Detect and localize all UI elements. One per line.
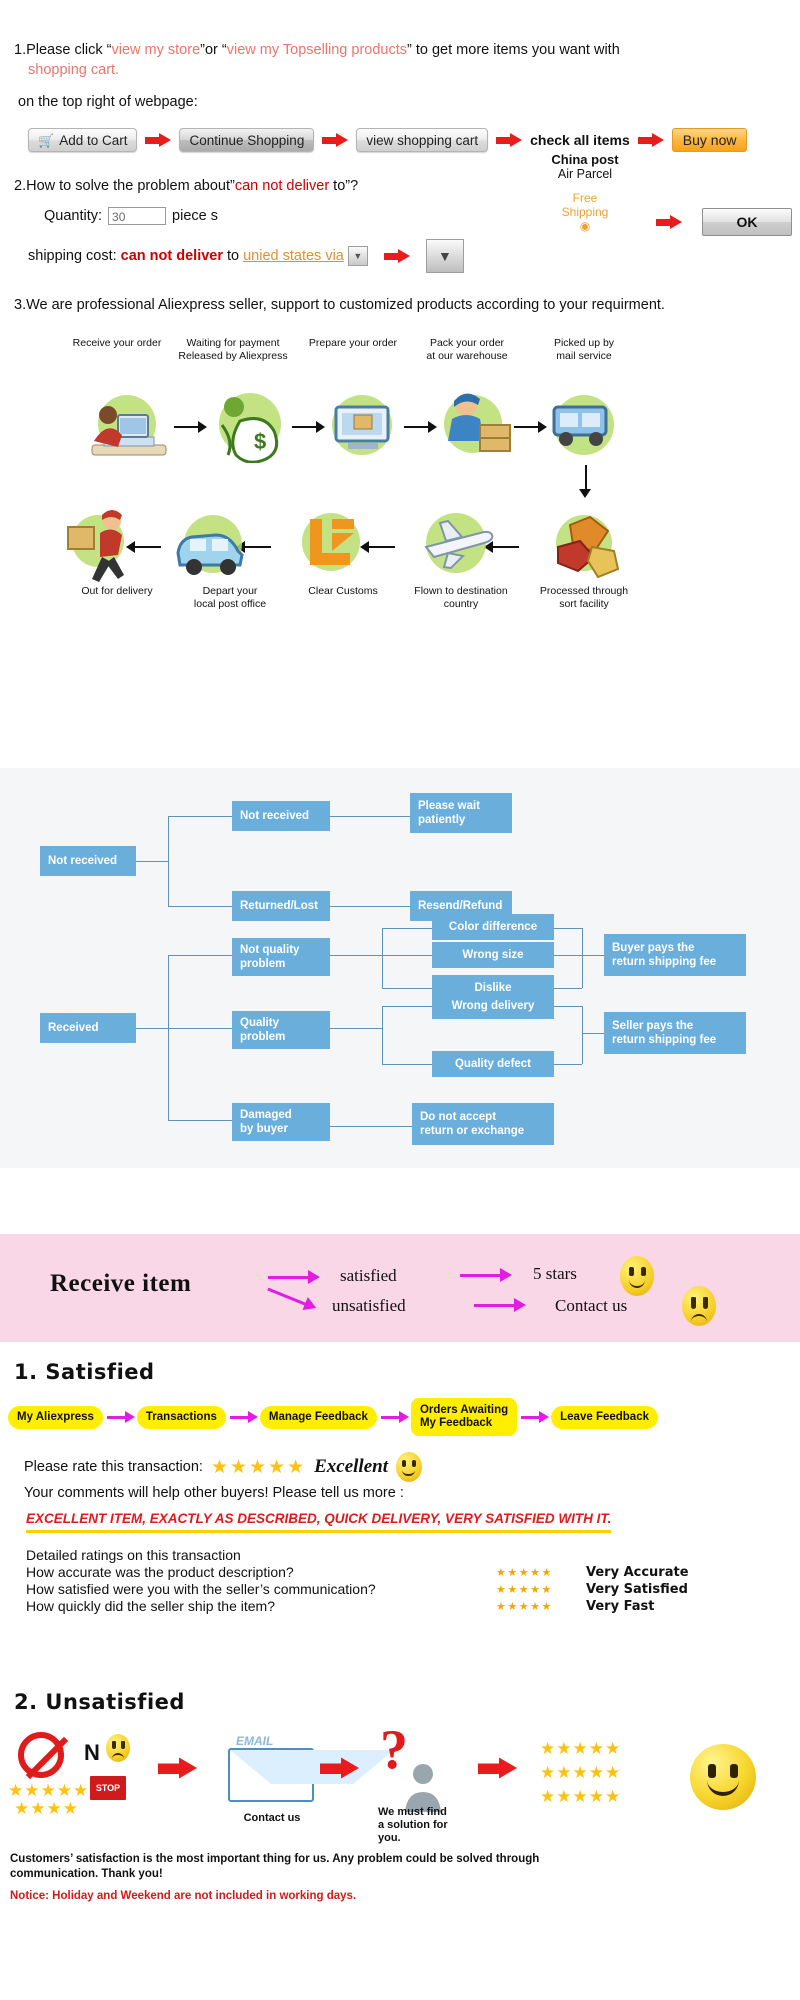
to-text: to xyxy=(227,248,239,264)
arrow-right-icon xyxy=(320,1759,380,1777)
buy-now-button[interactable]: Buy now xyxy=(672,128,748,152)
arrow-to-satisfied xyxy=(268,1270,324,1284)
flow-node-no-return-exchange: Do not accept return or exchange xyxy=(412,1103,554,1145)
connector xyxy=(168,955,232,956)
section2-heading-a: 2.How to solve the problem about” xyxy=(14,178,235,194)
connector xyxy=(382,928,383,988)
section2-heading-highlight: can not deliver xyxy=(235,178,329,194)
svg-text:$: $ xyxy=(254,429,266,454)
detailed-ratings-title: Detailed ratings on this transaction xyxy=(0,1547,800,1563)
detail-question: How accurate was the product description… xyxy=(26,1564,496,1580)
connector xyxy=(168,1028,232,1029)
connector xyxy=(168,816,169,906)
satisfaction-footnote: Customers’ satisfaction is the most impo… xyxy=(0,1846,800,1882)
arrow-right-icon xyxy=(158,1759,218,1777)
mail-truck-icon xyxy=(546,391,626,461)
connector xyxy=(554,1006,582,1007)
quantity-label: Quantity: xyxy=(44,208,102,224)
section2-heading-b: to”? xyxy=(329,178,358,194)
view-shopping-cart-button[interactable]: view shopping cart xyxy=(356,128,488,152)
connector xyxy=(382,1064,432,1065)
arrow-right-icon xyxy=(496,134,522,146)
receive-item-title: Receive item xyxy=(50,1270,191,1298)
arrow-right-icon xyxy=(377,1411,411,1423)
flow-node-damaged-by-buyer: Damaged by buyer xyxy=(232,1103,330,1141)
connector xyxy=(582,1006,583,1064)
satisfied-section: 1. Satisfied My Aliexpress Transactions … xyxy=(0,1360,800,1614)
flow-node-buyer-pays: Buyer pays the return shipping fee xyxy=(604,934,746,976)
section2-heading: 2.How to solve the problem about”can not… xyxy=(14,178,786,194)
connector xyxy=(382,1006,432,1007)
flow-label-depart-post-office: Depart your local post office xyxy=(174,585,286,611)
crumb-orders-awaiting-feedback[interactable]: Orders Awaiting My Feedback xyxy=(411,1398,517,1436)
money-bag-icon: $ xyxy=(210,387,296,463)
rating-stars-row-2: ★★★★★ xyxy=(540,1764,621,1781)
instruction-text: 1.Please click “ xyxy=(14,42,112,58)
continue-shopping-button[interactable]: Continue Shopping xyxy=(179,128,314,152)
arrow-right-icon xyxy=(145,134,171,146)
connector xyxy=(168,1120,232,1121)
worried-face-icon xyxy=(106,1734,130,1762)
free-shipping-label: Free Shipping ◉ xyxy=(510,191,660,233)
contact-us-caption: Contact us xyxy=(226,1812,318,1825)
connector xyxy=(554,988,582,989)
piece-label: piece s xyxy=(172,208,218,224)
connector xyxy=(168,816,232,817)
flow-node-returned-lost: Returned/Lost xyxy=(232,891,330,921)
connector xyxy=(330,816,410,817)
shipping-cost-label: shipping cost: xyxy=(28,248,117,264)
customer-order-icon xyxy=(84,389,176,467)
arrow-to-5-stars xyxy=(460,1268,516,1282)
shopping-cart-icon: 🛒 xyxy=(38,134,54,147)
connector xyxy=(382,988,432,989)
arrow-right-icon xyxy=(226,1411,260,1423)
flow-node-please-wait: Please wait patiently xyxy=(410,793,512,833)
instruction-text: ”or “ xyxy=(200,42,227,58)
instructions-section-2: 2.How to solve the problem about”can not… xyxy=(0,152,800,273)
arrow-right-icon xyxy=(638,134,664,146)
connector xyxy=(136,1028,168,1029)
arrow-right-icon xyxy=(322,134,348,146)
flow-arrow-down xyxy=(580,465,592,499)
flow-label-out-for-delivery: Out for delivery xyxy=(62,585,172,598)
instruction-line-1: 1.Please click “view my store”or “view m… xyxy=(14,40,786,60)
feedback-breadcrumb-flow: My Aliexpress Transactions Manage Feedba… xyxy=(0,1398,800,1436)
flow-node-seller-pays: Seller pays the return shipping fee xyxy=(604,1012,746,1054)
detail-value: Very Accurate xyxy=(586,1565,689,1580)
flow-node-received-root: Received xyxy=(40,1013,136,1043)
receive-item-banner: Receive item satisfied unsatisfied 5 sta… xyxy=(0,1234,800,1342)
flow-node-not-received-root: Not received xyxy=(40,846,136,876)
flow-label-processed-sort: Processed through sort facility xyxy=(524,585,644,611)
flow-label-waiting-payment: Waiting for payment Released by Aliexpre… xyxy=(174,337,292,363)
view-my-store-link[interactable]: view my store xyxy=(112,42,201,58)
returns-flowchart: Not received Not received Returned/Lost … xyxy=(0,768,800,1168)
connector xyxy=(168,955,169,1120)
country-dropdown-caret[interactable]: ▼ xyxy=(348,246,368,266)
detail-question: How quickly did the seller ship the item… xyxy=(26,1598,496,1614)
flow-arrow-1 xyxy=(174,423,214,435)
crumb-transactions[interactable]: Transactions xyxy=(137,1406,226,1429)
delivery-van-icon xyxy=(170,513,262,579)
connector xyxy=(382,928,432,929)
detail-stars: ★★★★★ xyxy=(496,1566,586,1579)
returns-policy-flowchart-section: Not received Not received Returned/Lost … xyxy=(0,768,800,1168)
detail-row: How quickly did the seller ship the item… xyxy=(0,1598,800,1614)
arrow-right-icon xyxy=(478,1759,538,1777)
detail-value: Very Fast xyxy=(586,1599,654,1614)
no-entry-icon xyxy=(18,1732,64,1778)
view-topselling-products-link[interactable]: view my Topselling products xyxy=(227,42,407,58)
flow-node-not-quality-problem: Not quality problem xyxy=(232,938,330,976)
rating-stars-row-3: ★★★★★ xyxy=(540,1788,621,1805)
cart-button-strip: 🛒 Add to Cart Continue Shopping view sho… xyxy=(14,128,786,152)
email-envelope-icon xyxy=(228,1748,314,1802)
instructions-section-3: 3.We are professional Aliexpress seller,… xyxy=(0,273,800,647)
detail-row: How satisfied were you with the seller’s… xyxy=(0,1581,800,1597)
radio-button-icon[interactable]: ◉ xyxy=(510,219,660,233)
unsatisfied-section: 2. Unsatisfied ★★★★★ ★★★★ N STOP EMAIL C… xyxy=(0,1690,800,1902)
computer-package-icon xyxy=(326,389,404,463)
customs-icon xyxy=(292,507,372,581)
add-to-cart-label: Add to Cart xyxy=(59,133,127,148)
detail-stars: ★★★★★ xyxy=(496,1583,586,1596)
crumb-my-aliexpress[interactable]: My Aliexpress xyxy=(8,1406,103,1429)
flow-label-pack-order: Pack your order at our warehouse xyxy=(412,337,522,363)
flow-label-clear-customs: Clear Customs xyxy=(289,585,397,598)
connector xyxy=(582,955,604,956)
ok-button[interactable]: OK xyxy=(702,208,792,236)
sad-face-icon xyxy=(682,1286,716,1326)
contact-us-label: Contact us xyxy=(555,1296,627,1316)
instruction-line-3: on the top right of webpage: xyxy=(14,94,786,110)
connector xyxy=(554,955,582,956)
shipping-text: Shipping xyxy=(510,205,660,219)
connector xyxy=(382,955,432,956)
flow-label-picked-up: Picked up by mail service xyxy=(534,337,634,363)
holiday-notice: Notice: Holiday and Weekend are not incl… xyxy=(0,1882,800,1902)
free-text: Free xyxy=(510,191,660,205)
instruction-line-2: shopping cart. xyxy=(14,60,786,80)
buyer-comment-text: EXCELLENT ITEM, EXACTLY AS DESCRIBED, QU… xyxy=(26,1511,611,1533)
rating-word: Excellent xyxy=(314,1456,388,1478)
airplane-icon xyxy=(416,509,500,581)
no-letter-label: N xyxy=(84,1740,100,1766)
check-all-items-label: check all items xyxy=(530,132,630,148)
satisfied-label: satisfied xyxy=(340,1266,397,1286)
arrow-right-icon xyxy=(656,216,682,228)
big-happy-face-icon xyxy=(690,1744,756,1810)
connector xyxy=(330,906,410,907)
order-process-flow-diagram: Receive your order Waiting for payment R… xyxy=(14,337,786,647)
connector xyxy=(582,1033,604,1034)
connector xyxy=(330,955,382,956)
connector xyxy=(330,1028,382,1029)
instructions-section-1: 1.Please click “view my store”or “view m… xyxy=(0,0,800,152)
connector xyxy=(582,928,583,988)
crumb-manage-feedback[interactable]: Manage Feedback xyxy=(260,1406,377,1429)
unsatisfied-label: unsatisfied xyxy=(332,1296,406,1316)
arrow-right-icon xyxy=(103,1411,137,1423)
detail-stars: ★★★★★ xyxy=(496,1600,586,1613)
solution-caption: We must find a solution for you. xyxy=(378,1806,478,1845)
happy-face-icon xyxy=(396,1452,422,1482)
flow-node-not-received: Not received xyxy=(232,801,330,831)
country-select-value[interactable]: unied states via xyxy=(243,248,344,264)
email-label: EMAIL xyxy=(236,1734,273,1748)
courier-running-icon xyxy=(60,505,142,587)
arrow-right-icon xyxy=(517,1411,551,1423)
china-post-block: China post Air Parcel Free Shipping ◉ xyxy=(510,152,660,233)
flow-node-quality-problem: Quality problem xyxy=(232,1011,330,1049)
unsat-stars-row-2: ★★★★ xyxy=(14,1800,79,1817)
ok-arrow-wrap xyxy=(656,214,682,230)
shipping-method-dropdown[interactable]: ▼ xyxy=(426,239,464,273)
detail-value: Very Satisfied xyxy=(586,1582,688,1597)
flow-node-color-difference: Color difference xyxy=(432,914,554,940)
rating-stars-row-1: ★★★★★ xyxy=(540,1740,621,1757)
flow-label-prepare-order: Prepare your order xyxy=(299,337,407,350)
rating-stars[interactable]: ★★★★★ xyxy=(211,1458,306,1477)
unsatisfied-flow: ★★★★★ ★★★★ N STOP EMAIL Contact us ? We … xyxy=(0,1726,800,1846)
flow-node-wrong-size: Wrong size xyxy=(432,942,554,968)
arrow-right-icon xyxy=(384,250,410,262)
happy-face-icon xyxy=(620,1256,654,1296)
connector xyxy=(136,861,168,862)
flow-node-wrong-delivery: Wrong delivery xyxy=(432,993,554,1019)
five-stars-label: 5 stars xyxy=(533,1264,577,1284)
connector xyxy=(330,1126,412,1127)
connector xyxy=(554,928,582,929)
unsatisfied-heading: 2. Unsatisfied xyxy=(0,1690,800,1714)
worker-packing-icon xyxy=(436,383,522,465)
unsat-stars-row-1: ★★★★★ xyxy=(8,1782,89,1799)
flow-node-quality-defect: Quality defect xyxy=(432,1051,554,1077)
arrow-to-unsatisfied xyxy=(265,1282,322,1316)
flow-label-receive-order: Receive your order xyxy=(62,337,172,350)
quantity-input[interactable]: 30 xyxy=(108,207,166,225)
arrow-to-contact-us xyxy=(474,1298,530,1312)
air-parcel-subtitle: Air Parcel xyxy=(510,167,660,181)
sorting-parcels-icon xyxy=(540,507,632,585)
crumb-leave-feedback[interactable]: Leave Feedback xyxy=(551,1406,658,1429)
rate-transaction-row: Please rate this transaction: ★★★★★ Exce… xyxy=(0,1452,800,1482)
connector xyxy=(554,1064,582,1065)
satisfied-heading: 1. Satisfied xyxy=(0,1360,800,1384)
china-post-title: China post xyxy=(510,152,660,167)
flow-label-flown-destination: Flown to destination country xyxy=(402,585,520,611)
comments-prompt: Your comments will help other buyers! Pl… xyxy=(0,1485,800,1501)
connector xyxy=(168,906,232,907)
connector xyxy=(382,1006,383,1064)
shipping-cost-row: shipping cost:can not deliver to unied s… xyxy=(14,239,786,273)
detail-row: How accurate was the product description… xyxy=(0,1564,800,1580)
cannot-deliver-text: can not deliver xyxy=(121,248,223,264)
instruction-text: ” to get more items you want with xyxy=(407,42,620,58)
stop-sign-icon: STOP xyxy=(88,1774,128,1802)
section3-heading: 3.We are professional Aliexpress seller,… xyxy=(14,297,786,313)
detail-question: How satisfied were you with the seller’s… xyxy=(26,1581,496,1597)
add-to-cart-button[interactable]: 🛒 Add to Cart xyxy=(28,128,137,152)
rate-transaction-label: Please rate this transaction: xyxy=(24,1459,203,1475)
